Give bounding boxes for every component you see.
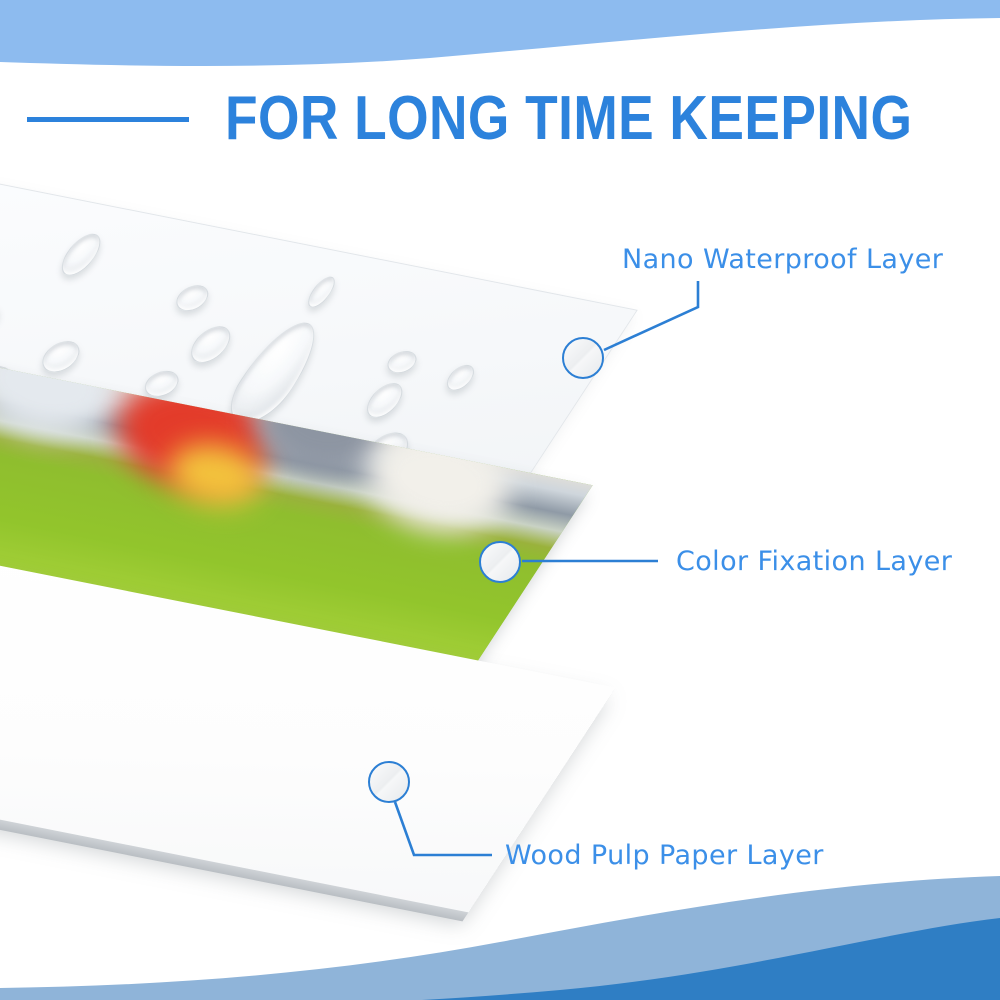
callout-label-wood-pulp-paper-layer: Wood Pulp Paper Layer — [505, 840, 824, 872]
layer-stack-illustration — [0, 210, 630, 870]
callout-label-nano-waterproof-layer: Nano Waterproof Layer — [622, 244, 943, 276]
header-wave-decoration — [0, 0, 1000, 80]
page-title: FOR LONG TIME KEEPING — [225, 88, 912, 150]
title-accent-dash — [27, 117, 189, 122]
layer-marker-color[interactable] — [479, 541, 521, 583]
footer-wave-decoration — [0, 870, 1000, 1000]
layer-marker-nano[interactable] — [562, 337, 604, 379]
layer-marker-wood[interactable] — [368, 761, 410, 803]
photo-paper-layer-infographic: FOR LONG TIME KEEPING — [0, 0, 1000, 1000]
page-title-row: FOR LONG TIME KEEPING — [0, 88, 1000, 150]
callout-label-color-fixation-layer: Color Fixation Layer — [676, 546, 952, 578]
